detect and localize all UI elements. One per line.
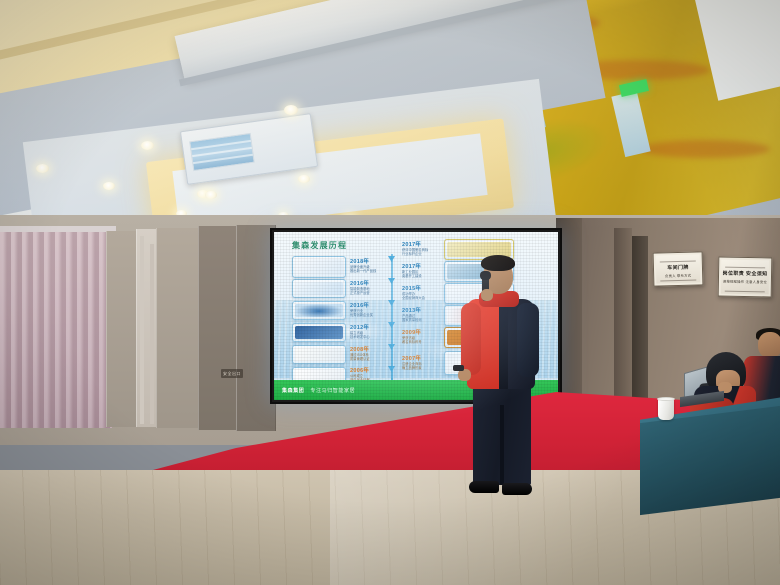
timeline-desc: 新工业园区 奠基开工建设 xyxy=(402,270,438,279)
downlight xyxy=(205,191,217,199)
timeline-year: 2012年 xyxy=(350,323,369,331)
movable-partition-wall xyxy=(106,231,138,427)
paper-cup-rim xyxy=(657,397,675,401)
wall-notice-frame: 岗位职责 安全须知 请按规程操作 注意人身安全 xyxy=(718,257,773,298)
wall-notice-subtitle: 请按规程操作 注意人身安全 xyxy=(721,280,769,286)
timeline-desc: 品牌全面升级 推出新一代产品线 xyxy=(350,265,386,274)
timeline-node xyxy=(388,278,395,284)
timeline-year: 2016年 xyxy=(350,301,369,309)
wall-notice-subtitle: 负责人 联系方式 xyxy=(656,272,700,278)
conference-room-photo: 安全出口 车间门牌 负责人 联系方式 岗位职责 安全须知 请按规程操作 注意人身… xyxy=(0,0,780,585)
presenter-leg-gap xyxy=(500,405,504,485)
timeline-desc: 成功举办 全国经销商大会 xyxy=(402,292,438,301)
wall-notice-title: 车间门牌 xyxy=(656,263,700,271)
presenter-sleeve-right xyxy=(517,303,539,377)
downlight xyxy=(141,141,154,150)
downlight xyxy=(298,175,310,183)
timeline-year: 2015年 xyxy=(402,284,421,292)
timeline-desc: 获评中国驰名商标 行业标杆企业 xyxy=(402,248,438,257)
movable-partition-wall xyxy=(198,226,238,430)
presenter-hair xyxy=(481,255,515,271)
onyx-vein xyxy=(640,140,770,158)
timeline-year: 2008年 xyxy=(350,345,369,353)
wall-notice-title: 岗位职责 安全须知 xyxy=(721,270,769,278)
downlight xyxy=(103,182,115,190)
curtain-rail xyxy=(0,226,116,232)
slide-title: 集森发展历程 xyxy=(292,240,347,251)
timeline-year: 2009年 xyxy=(402,328,421,336)
timeline-desc: 注册企业商标 确立品牌形象 xyxy=(402,362,438,371)
timeline-card xyxy=(292,256,346,278)
timeline-card xyxy=(292,301,346,320)
timeline-year: 2017年 xyxy=(402,262,421,270)
presenter-shoe xyxy=(502,483,532,495)
timeline-desc: 建立省级 技术研发中心 xyxy=(350,331,386,340)
presenter-hand-right xyxy=(481,289,493,301)
timeline-card xyxy=(292,279,346,298)
timeline-card xyxy=(292,323,346,342)
timeline-year: 2007年 xyxy=(402,354,421,362)
presenter-sleeve-left xyxy=(461,303,481,375)
timeline-year: 2017年 xyxy=(402,240,421,248)
timeline-year: 2016年 xyxy=(350,279,369,287)
presenter-jacket-placket xyxy=(499,305,508,389)
timeline-axis xyxy=(391,254,393,384)
exit-sign: 安全出口 xyxy=(221,369,243,378)
presentation-clicker xyxy=(453,365,464,371)
wall-notice-frame: 车间门牌 负责人 联系方式 xyxy=(653,251,704,286)
timeline-desc: 智能制造基地 正式投产运营 xyxy=(350,287,386,296)
presenter-shoe xyxy=(469,481,499,493)
timeline-year: 2013年 xyxy=(402,306,421,314)
slide-footer-text: 专注马归智能家居 xyxy=(310,387,355,394)
timeline-card xyxy=(292,345,346,364)
microphone-head xyxy=(480,271,491,280)
movable-partition-wall xyxy=(156,228,200,428)
ceiling xyxy=(0,0,780,240)
timeline-desc: 通过ISO体系 质量管理认证 xyxy=(350,353,386,362)
downlight xyxy=(36,164,49,173)
pink-stage-curtain xyxy=(0,228,112,428)
attendee-head xyxy=(758,332,780,358)
white-paper-cup xyxy=(658,399,674,420)
timeline-desc: 荣获省级 著名商标称号 xyxy=(402,336,438,345)
timeline-desc: 产品通过 国家质量检测 xyxy=(402,314,438,323)
presenter-with-microphone xyxy=(455,253,563,503)
timeline-node xyxy=(388,256,395,262)
downlight xyxy=(284,105,298,115)
wall-pipe xyxy=(150,244,154,424)
timeline-desc: 荣获行业 优秀创新企业奖 xyxy=(350,309,386,318)
timeline-year: 2018年 xyxy=(350,257,369,265)
wall-pipe xyxy=(140,236,144,424)
audience-table xyxy=(640,405,780,515)
timeline-year: 2006年 xyxy=(350,366,369,374)
slide-footer-badge: 集森集团 xyxy=(282,387,304,394)
